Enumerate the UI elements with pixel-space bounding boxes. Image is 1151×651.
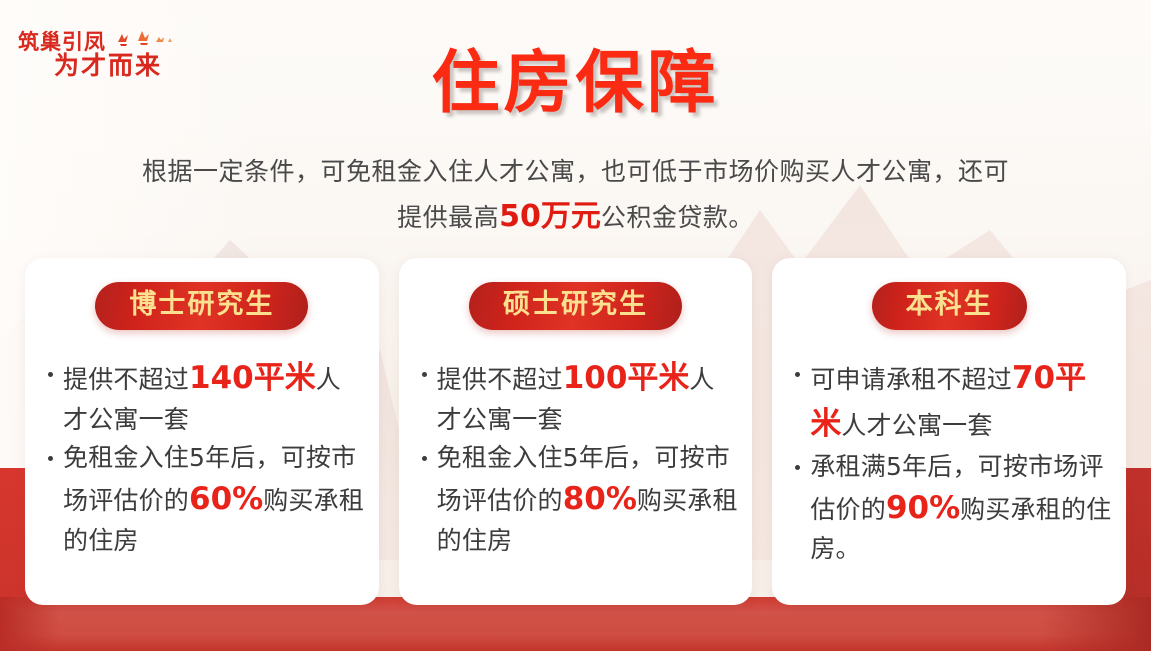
bullet-highlight-value: 100平米	[563, 360, 690, 396]
card-bullet: 免租金入住5年后，可按市场评估价的80%购买承租的住房	[421, 440, 739, 559]
benefit-cards-row: 博士研究生提供不超过140平米人才公寓一套免租金入住5年后，可按市场评估价的60…	[25, 258, 1126, 605]
bottom-red-band	[0, 597, 1151, 651]
bullet-text: 提供不超过	[63, 365, 189, 394]
card-bullet: 承租满5年后，可按市场评估价的90%购买承租的住房。	[794, 449, 1112, 568]
card-body: 提供不超过100平米人才公寓一套免租金入住5年后，可按市场评估价的80%购买承租…	[421, 356, 739, 561]
card-badge-wrapper: 硕士研究生	[399, 282, 753, 330]
bottom-band-left-shade	[0, 597, 60, 651]
bullet-text: 可申请承租不超过	[810, 365, 1012, 394]
bullet-highlight-value: 140平米	[189, 360, 316, 396]
card-badge: 硕士研究生	[469, 282, 682, 330]
bottom-band-right-shade	[1041, 597, 1151, 651]
card-bullet: 可申请承租不超过70平米人才公寓一套	[794, 356, 1112, 447]
card-bullet: 提供不超过100平米人才公寓一套	[421, 356, 739, 438]
card-body: 提供不超过140平米人才公寓一套免租金入住5年后，可按市场评估价的60%购买承租…	[47, 356, 365, 561]
benefit-card: 本科生可申请承租不超过70平米人才公寓一套承租满5年后，可按市场评估价的90%购…	[772, 258, 1126, 605]
card-bullet: 免租金入住5年后，可按市场评估价的60%购买承租的住房	[47, 440, 365, 559]
bullet-highlight-value: 60%	[189, 481, 263, 517]
card-badge: 本科生	[872, 282, 1027, 330]
bullet-highlight-value: 80%	[563, 481, 637, 517]
benefit-card: 硕士研究生提供不超过100平米人才公寓一套免租金入住5年后，可按市场评估价的80…	[399, 258, 753, 605]
housing-guarantee-slide: 筑巢引凤 为才而来 住房保障 根据一定条件，可免租金入住人才公寓，也可低于市场价…	[0, 0, 1151, 651]
page-title: 住房保障	[0, 50, 1151, 118]
card-badge: 博士研究生	[95, 282, 308, 330]
bullet-text: 人才公寓一套	[841, 411, 992, 440]
card-body: 可申请承租不超过70平米人才公寓一套承租满5年后，可按市场评估价的90%购买承租…	[794, 356, 1112, 570]
bullet-highlight-value: 90%	[886, 490, 960, 526]
card-bullet: 提供不超过140平米人才公寓一套	[47, 356, 365, 438]
benefit-card: 博士研究生提供不超过140平米人才公寓一套免租金入住5年后，可按市场评估价的60…	[25, 258, 379, 605]
card-badge-wrapper: 本科生	[772, 282, 1126, 330]
bullet-text: 提供不超过	[437, 365, 563, 394]
subtitle-highlight: 50万元	[499, 199, 601, 234]
card-badge-wrapper: 博士研究生	[25, 282, 379, 330]
subtitle-part-2: 公积金贷款。	[601, 203, 754, 232]
subtitle-text: 根据一定条件，可免租金入住人才公寓，也可低于市场价购买人才公寓，还可提供最高50…	[140, 152, 1011, 241]
birds-icon	[112, 26, 178, 50]
